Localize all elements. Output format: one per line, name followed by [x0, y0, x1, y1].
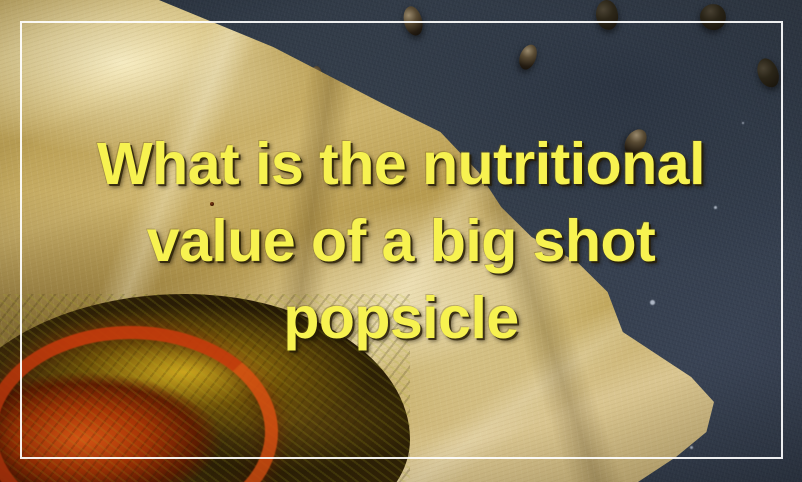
headline-line-2: value of a big shot	[26, 203, 776, 280]
slate-speck	[690, 446, 693, 449]
headline-overlay: What is the nutritional value of a big s…	[0, 126, 802, 357]
slate-speck	[742, 122, 744, 124]
hero-image: What is the nutritional value of a big s…	[0, 0, 802, 482]
headline-line-3: popsicle	[26, 280, 776, 357]
headline-line-1: What is the nutritional	[26, 126, 776, 203]
